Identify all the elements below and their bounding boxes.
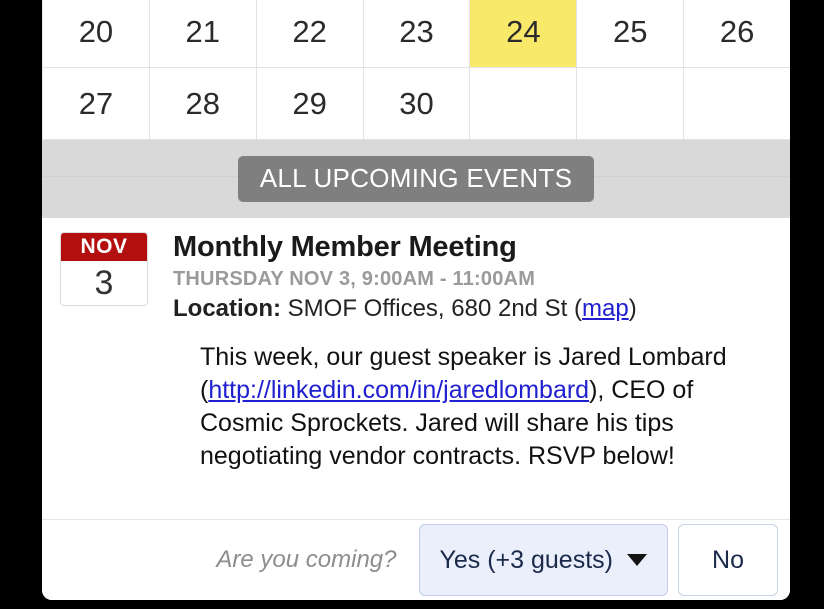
calendar-day-cell[interactable]: 29	[257, 68, 364, 139]
calendar-day-cell[interactable]: 30	[364, 68, 471, 139]
page-viewport: 20 21 22 23 24 25 26 27 28 29 30 ALL UPC…	[42, 0, 790, 600]
event-description: This week, our guest speaker is Jared Lo…	[42, 341, 790, 473]
calendar-day-cell[interactable]: 20	[42, 0, 150, 67]
calendar-day-cell-empty	[684, 68, 790, 139]
chevron-down-icon	[627, 554, 647, 566]
event-date-day: 3	[61, 261, 147, 303]
calendar-grid: 20 21 22 23 24 25 26 27 28 29 30	[42, 0, 790, 140]
event-location-value-end: )	[629, 295, 637, 322]
calendar-day-cell[interactable]: 27	[42, 68, 150, 139]
rsvp-yes-label: Yes (+3 guests)	[440, 548, 614, 573]
event-location-label: Location:	[173, 295, 281, 322]
event-details: Monthly Member Meeting THURSDAY NOV 3, 9…	[148, 232, 790, 323]
event-title: Monthly Member Meeting	[173, 232, 772, 262]
rsvp-no-button[interactable]: No	[678, 524, 778, 596]
rsvp-yes-dropdown-button[interactable]: Yes (+3 guests)	[419, 524, 669, 596]
rsvp-question-label: Are you coming?	[216, 546, 396, 574]
calendar-day-cell[interactable]: 25	[577, 0, 684, 67]
event-location-value: SMOF Offices, 680 2nd St (	[288, 295, 582, 322]
calendar-week-row: 27 28 29 30	[42, 68, 790, 140]
calendar-day-cell[interactable]: 21	[150, 0, 257, 67]
calendar-day-cell-selected[interactable]: 24	[470, 0, 577, 67]
calendar-day-cell-empty	[470, 68, 577, 139]
event-map-link[interactable]: map	[582, 295, 629, 322]
all-upcoming-events-button[interactable]: ALL UPCOMING EVENTS	[238, 156, 594, 202]
calendar-day-cell[interactable]: 26	[684, 0, 790, 67]
event-location: Location: SMOF Offices, 680 2nd St (map)	[173, 295, 772, 323]
calendar-day-cell[interactable]: 22	[257, 0, 364, 67]
event-item: NOV 3 Monthly Member Meeting THURSDAY NO…	[42, 218, 790, 473]
event-date-badge: NOV 3	[60, 232, 148, 306]
upcoming-events-band: ALL UPCOMING EVENTS	[42, 140, 790, 218]
calendar-week-row: 20 21 22 23 24 25 26	[42, 0, 790, 68]
event-datetime: THURSDAY NOV 3, 9:00AM - 11:00AM	[173, 268, 772, 290]
screen-frame: 20 21 22 23 24 25 26 27 28 29 30 ALL UPC…	[0, 0, 824, 609]
calendar-day-cell[interactable]: 23	[364, 0, 471, 67]
event-speaker-linkedin-link[interactable]: http://linkedin.com/in/jaredlombard	[208, 376, 589, 404]
calendar-day-cell-empty	[577, 68, 684, 139]
calendar-day-cell[interactable]: 28	[150, 68, 257, 139]
rsvp-row: Are you coming? Yes (+3 guests) No	[42, 519, 790, 600]
event-date-month: NOV	[61, 233, 147, 261]
event-header: NOV 3 Monthly Member Meeting THURSDAY NO…	[42, 218, 790, 323]
